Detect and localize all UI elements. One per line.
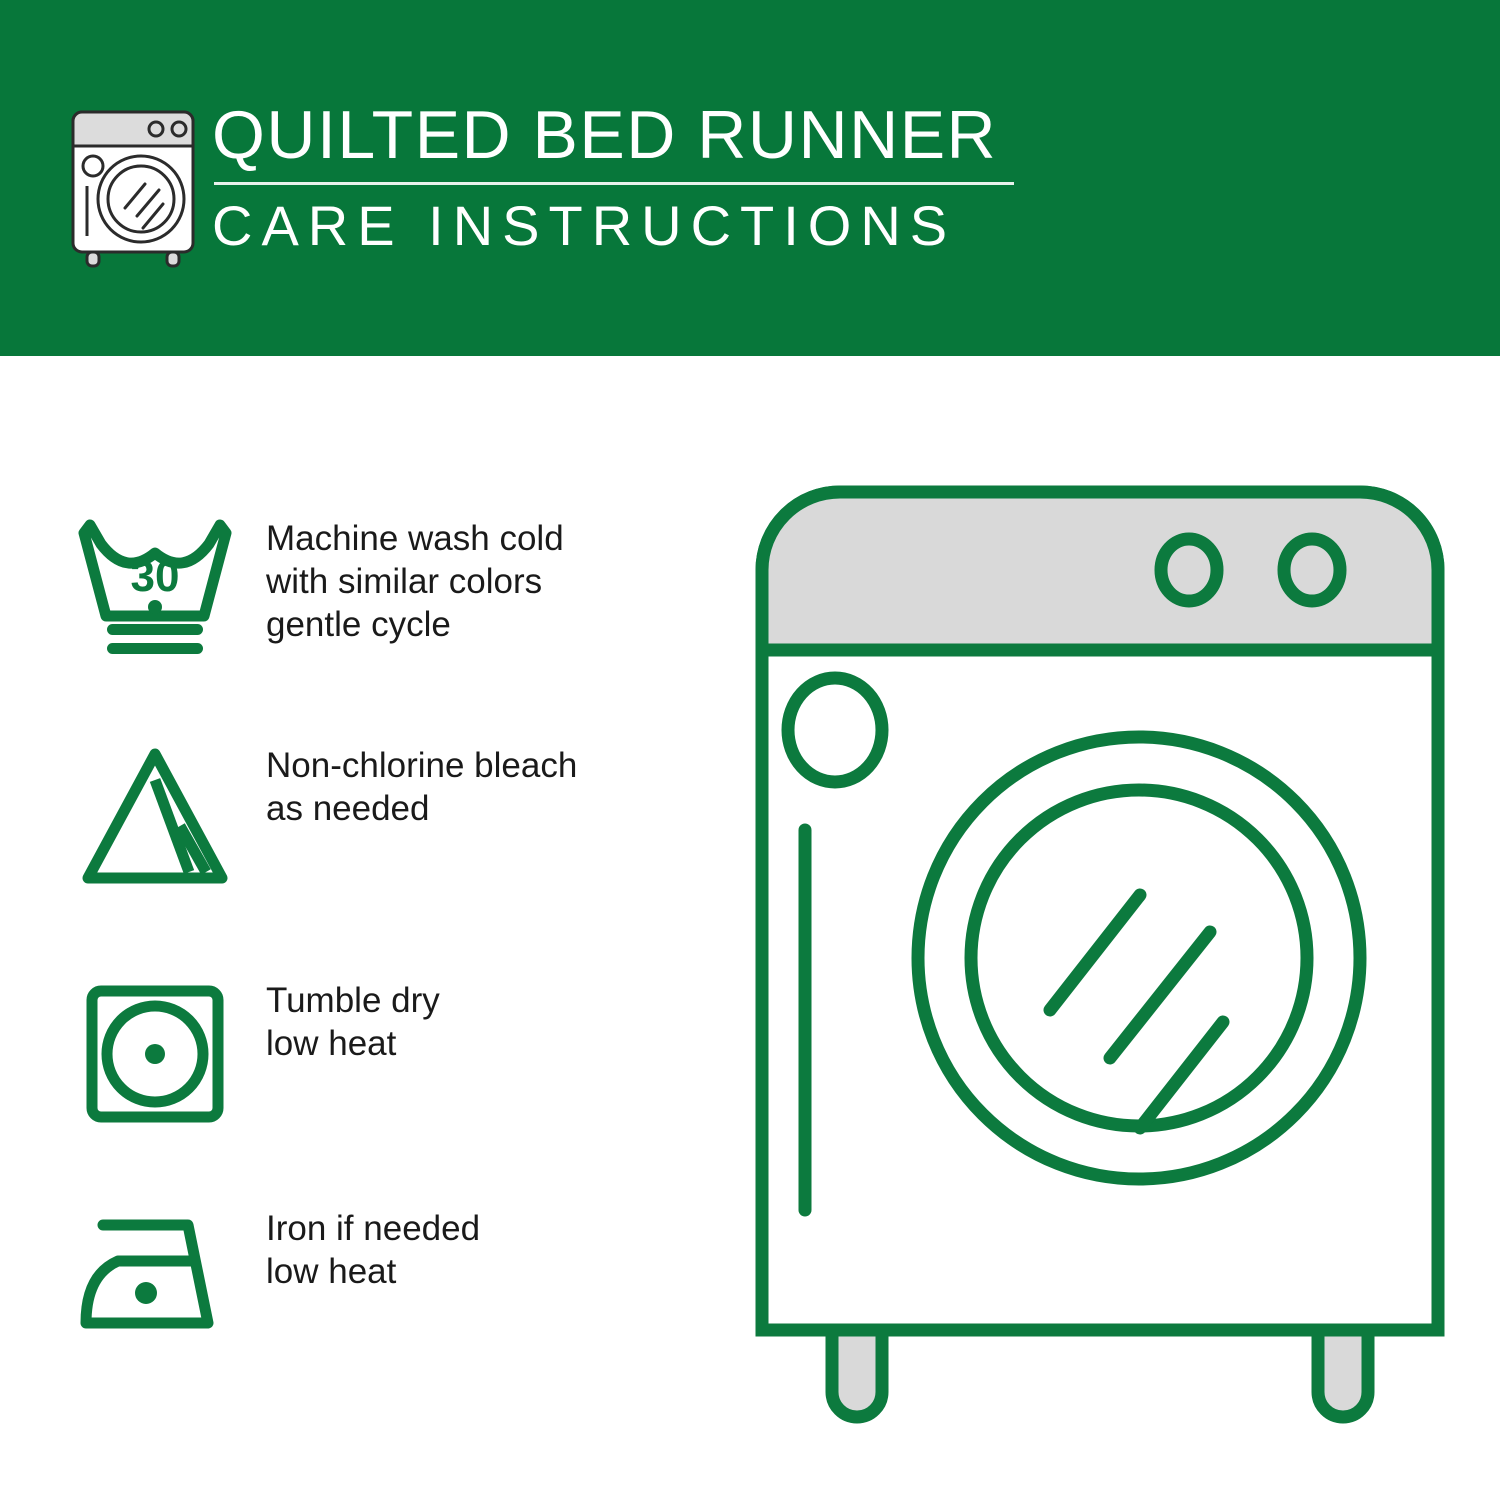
non-chlorine-bleach-triangle-icon [70,738,240,898]
header-divider [214,182,1014,185]
wash-temperature-label: 30 [131,552,180,601]
care-instruction-text: Tumble dry low heat [266,973,440,1065]
header-text-block: QUILTED BED RUNNER CARE INSTRUCTIONS [212,96,1032,261]
tumble-dry-low-heat-icon [70,973,240,1133]
washing-machine-illustration [740,470,1460,1440]
washer-leg-right [1318,1330,1368,1417]
wash-tub-30-gentle-icon: 30 [70,511,240,671]
washing-machine-icon [63,104,203,269]
list-item: Tumble dry low heat [70,973,670,1133]
page-title: QUILTED BED RUNNER [212,96,1032,174]
care-instruction-list: 30 Machine wash cold with similar colors… [0,356,700,1500]
care-instruction-text: Non-chlorine bleach as needed [266,738,577,830]
care-instruction-text: Iron if needed low heat [266,1201,480,1293]
list-item: Iron if needed low heat [70,1201,670,1361]
header-banner: QUILTED BED RUNNER CARE INSTRUCTIONS [0,0,1500,356]
iron-low-heat-icon [70,1201,240,1361]
list-item: 30 Machine wash cold with similar colors… [70,511,670,671]
care-instruction-text: Machine wash cold with similar colors ge… [266,511,564,646]
washer-leg-left [832,1330,882,1417]
page-subtitle: CARE INSTRUCTIONS [212,191,1032,261]
list-item: Non-chlorine bleach as needed [70,738,670,898]
